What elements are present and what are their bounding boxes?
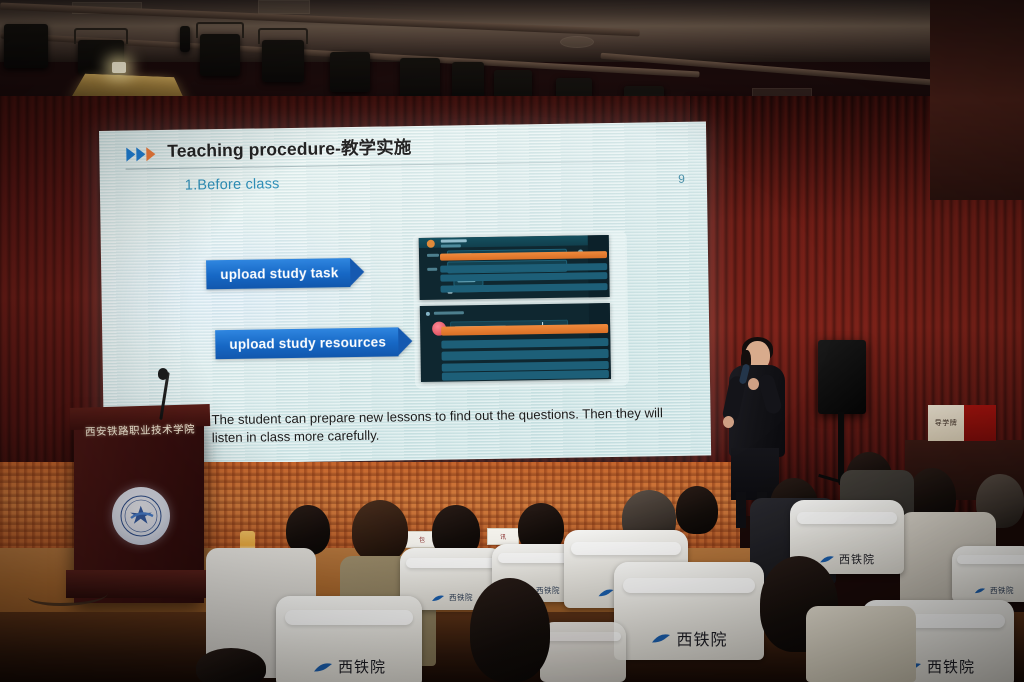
audience-head <box>352 500 408 562</box>
seat-label: 西铁院 <box>338 656 386 677</box>
slide-subtitle: 1.Before class <box>185 176 280 193</box>
slide-body-text: The student can prepare new lessons to f… <box>211 404 664 447</box>
chevron-right-icon <box>136 147 145 161</box>
emblem-star-icon <box>119 494 163 538</box>
presenter-hand-left <box>723 416 734 428</box>
banner-label: upload study task <box>220 265 338 282</box>
seat-fold <box>797 512 897 524</box>
podium-microphone-head <box>158 368 168 380</box>
chevron-right-icon <box>126 147 135 161</box>
seat-brand: 西铁院 <box>276 656 422 677</box>
banner-upload-study-task: upload study task <box>206 258 351 289</box>
audience-coat-foreground <box>806 606 916 682</box>
light-yoke <box>196 22 244 38</box>
seat-label: 西铁院 <box>449 592 473 603</box>
audience-head <box>676 486 718 534</box>
seat-label: 西铁院 <box>927 656 975 677</box>
seat-brand: 西铁院 <box>614 626 764 650</box>
seat-label: 西铁院 <box>839 551 875 567</box>
app-header-text <box>441 244 461 247</box>
seat-brand: 西铁院 <box>952 585 1024 596</box>
podium-sign-text: 西安铁路职业技术学院 <box>78 419 202 440</box>
side-table-sign-red <box>964 405 996 441</box>
presenter-leg <box>736 492 746 528</box>
college-emblem-icon <box>112 487 170 545</box>
seat-logo-icon <box>974 585 986 596</box>
app-submit-button <box>441 324 608 335</box>
seat-fold <box>285 610 413 624</box>
app-side-button <box>440 272 607 281</box>
app-back-icon <box>426 312 430 316</box>
app-header-text <box>441 239 467 242</box>
app-breadcrumb <box>434 311 464 314</box>
stage-light-fixture <box>400 58 440 100</box>
pa-speaker <box>818 340 866 414</box>
stage-light-fixture <box>4 24 48 68</box>
slide-title: Teaching procedure-教学实施 <box>167 134 411 163</box>
seat-logo-icon <box>431 592 445 604</box>
app-side-button <box>440 263 607 272</box>
seat-fold <box>571 542 680 554</box>
presenter-hand-right <box>748 378 759 390</box>
seat-logo-icon <box>312 658 334 676</box>
screenshot-upload-task <box>419 235 610 300</box>
app-side-button <box>441 349 608 360</box>
stage-light-fixture <box>452 62 484 98</box>
app-submit-button <box>440 251 607 260</box>
seat-logo-icon <box>819 552 835 566</box>
desk-card-text: 讯 <box>500 532 506 541</box>
light-bulb <box>112 62 126 73</box>
seat-fold <box>957 555 1024 564</box>
light-yoke <box>258 28 308 44</box>
side-wall-panel <box>930 0 1024 200</box>
light-yoke <box>74 28 128 44</box>
banner-label: upload study resources <box>229 335 386 352</box>
stage-light-fixture <box>330 52 370 92</box>
seat-cover: 西铁院 <box>276 596 422 682</box>
stage-light-fixture <box>262 40 304 82</box>
stage-light-fixture <box>180 26 190 52</box>
speaker-stand-pole <box>838 412 844 482</box>
ceiling-panel <box>258 0 310 14</box>
ceiling-panel <box>560 36 594 48</box>
app-side-button <box>442 370 609 381</box>
seat-fold <box>406 558 498 568</box>
app-field-label <box>427 254 439 257</box>
screenshot-upload-resources <box>420 303 611 382</box>
desk-name-card: 讯 <box>487 528 519 545</box>
seat-logo-icon <box>597 585 615 600</box>
app-side-button <box>440 283 607 292</box>
chevron-right-icon <box>146 147 155 161</box>
slide-page-number: 9 <box>678 172 685 186</box>
chevron-icon-group <box>126 147 155 161</box>
seat-logo-icon <box>650 629 672 647</box>
seat-label: 西铁院 <box>676 626 727 650</box>
auditorium-scene: Teaching procedure-教学实施 1.Before class 9 <box>0 0 1024 682</box>
seat-fold <box>545 632 621 642</box>
seat-cover: 西铁院 <box>614 562 764 660</box>
seat-fold <box>623 578 755 594</box>
side-table-sign: 导学牌 <box>928 405 964 441</box>
audience-head-foreground <box>196 648 266 682</box>
audience-head-foreground <box>470 578 550 682</box>
seat-cover <box>540 622 626 682</box>
seat-label: 西铁院 <box>990 585 1014 596</box>
app-side-button <box>441 338 608 349</box>
desk-card-text: 包 <box>419 535 425 544</box>
seat-cover: 西铁院 <box>952 546 1024 602</box>
app-field-label <box>427 268 437 271</box>
banner-upload-study-resources: upload study resources <box>215 327 398 359</box>
stage-light-fixture <box>200 34 240 76</box>
